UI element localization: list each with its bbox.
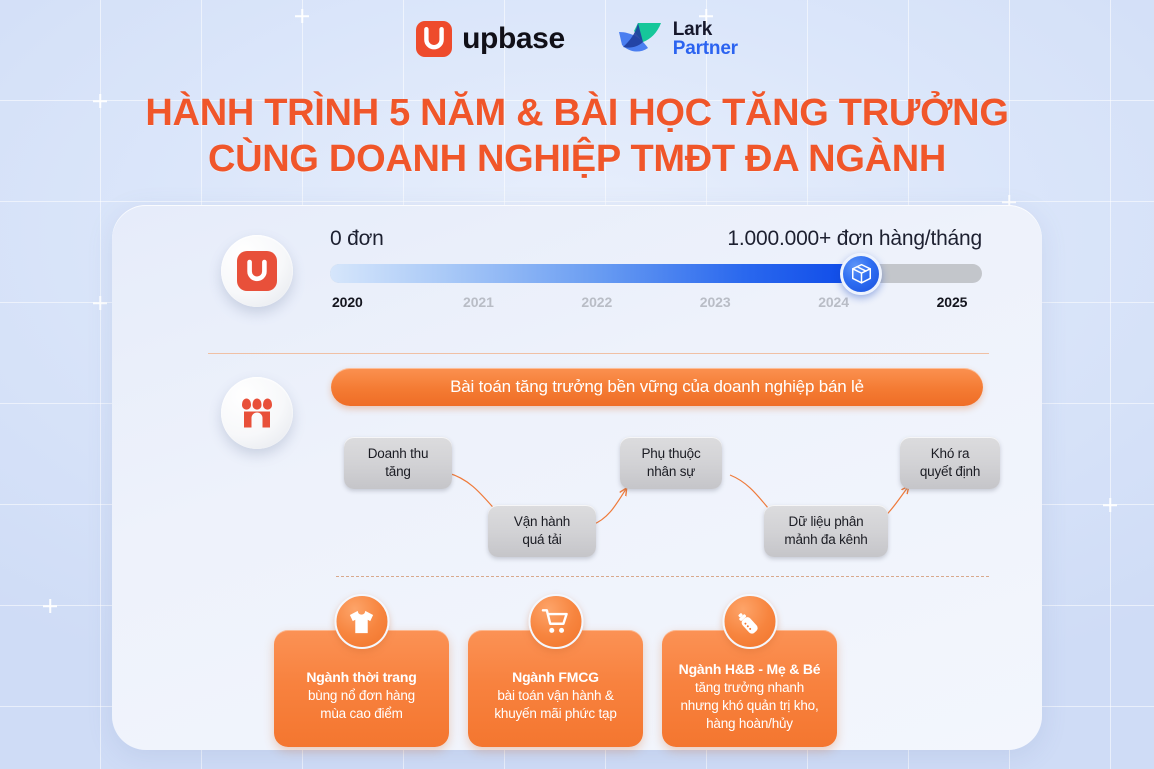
package-box-icon — [851, 263, 872, 285]
industry-card-fashion-title: Ngành thời trang — [284, 668, 439, 686]
flow-box-5-line2: quyết định — [920, 464, 980, 479]
flow-box-3-line1: Phụ thuộc — [642, 446, 701, 461]
upbase-logo: upbase — [416, 21, 565, 57]
industry-card-list: Ngành thời trang bùng nổ đơn hàng mùa ca… — [274, 630, 886, 747]
baby-bottle-icon — [722, 594, 777, 649]
timeline-slider-thumb[interactable] — [840, 253, 882, 295]
timeline-progress-fill — [330, 264, 861, 283]
industry-card-fmcg-desc-line1: bài toán vận hành & — [478, 687, 633, 705]
lark-wordmark: Lark Partner — [673, 20, 738, 58]
industry-card-hb-desc-line2: nhưng khó quản trị kho, — [672, 697, 827, 715]
flow-box-4: Dữ liệu phânmảnh đa kênh — [764, 505, 888, 557]
flow-box-2: Vận hànhquá tải — [488, 505, 596, 557]
timeline-year-2021: 2021 — [450, 294, 506, 310]
lark-partner-logo: Lark Partner — [617, 20, 738, 58]
timeline-progress-track[interactable] — [330, 264, 982, 283]
flow-box-1-line2: tăng — [385, 464, 410, 479]
industry-card-hb-title: Ngành H&B - Mẹ & Bé — [672, 660, 827, 678]
flow-box-5: Khó raquyết định — [900, 437, 1000, 489]
flow-box-5-line1: Khó ra — [931, 446, 970, 461]
section-divider-bottom — [336, 576, 989, 577]
page-title-line2: CÙNG DOANH NGHIỆP TMĐT ĐA NGÀNH — [0, 136, 1154, 182]
retail-badge-storefront — [221, 377, 293, 449]
sparkle-icon — [43, 599, 57, 613]
problem-flow-chart: Doanh thutăng Vận hànhquá tải Phụ thuộcn… — [330, 433, 990, 563]
shopping-cart-icon — [528, 594, 583, 649]
industry-card-fmcg-desc-line2: khuyến mãi phức tạp — [478, 705, 633, 723]
industry-card-fashion-desc-line1: bùng nổ đơn hàng — [284, 687, 439, 705]
infographic-canvas: upbase Lark Partner HÀNH TRÌNH 5 NĂM & B… — [0, 0, 1154, 769]
upbase-logo-icon — [237, 251, 277, 291]
timeline-year-2022: 2022 — [569, 294, 625, 310]
sparkle-icon — [1103, 498, 1117, 512]
page-title-line1: HÀNH TRÌNH 5 NĂM & BÀI HỌC TĂNG TRƯỞNG — [0, 90, 1154, 136]
flow-box-4-line2: mảnh đa kênh — [784, 532, 867, 547]
sparkle-icon — [93, 296, 107, 310]
timeline-year-2025: 2025 — [924, 294, 980, 310]
section-divider-top — [208, 353, 989, 354]
industry-card-fmcg-title: Ngành FMCG — [478, 668, 633, 686]
timeline-year-2023: 2023 — [687, 294, 743, 310]
flow-box-4-line1: Dữ liệu phân — [789, 514, 864, 529]
timeline-endpoint-labels: 0 đơn 1.000.000+ đơn hàng/tháng — [330, 227, 982, 251]
upbase-wordmark: upbase — [462, 22, 565, 56]
industry-card-fashion-desc-line2: mùa cao điểm — [284, 705, 439, 723]
timeline-year-2020: 2020 — [332, 294, 388, 310]
timeline-year-2024: 2024 — [806, 294, 862, 310]
upbase-u-logo-icon — [416, 21, 452, 57]
timeline-start-label: 0 đơn — [330, 227, 384, 251]
flow-box-2-line2: quá tải — [522, 532, 561, 547]
tshirt-icon — [334, 594, 389, 649]
storefront-icon — [237, 393, 277, 433]
industry-card-fmcg: Ngành FMCG bài toán vận hành & khuyến mã… — [468, 630, 643, 747]
lark-word-line2: Partner — [673, 39, 738, 58]
industry-card-fashion: Ngành thời trang bùng nổ đơn hàng mùa ca… — [274, 630, 449, 747]
industry-card-hb-mom-baby: Ngành H&B - Mẹ & Bé tăng trưởng nhanh nh… — [662, 630, 837, 747]
main-content-card: 0 đơn 1.000.000+ đơn hàng/tháng — [112, 205, 1042, 750]
flow-box-1-line1: Doanh thu — [368, 446, 429, 461]
flow-box-3-line2: nhân sự — [647, 464, 695, 479]
retail-problem-banner-text: Bài toán tăng trưởng bền vững của doanh … — [450, 377, 864, 397]
flow-box-1: Doanh thutăng — [344, 437, 452, 489]
timeline-year-labels: 2020 2021 2022 2023 2024 2025 — [330, 294, 982, 310]
lark-leaf-logo-icon — [617, 21, 663, 57]
retail-problem-banner: Bài toán tăng trưởng bền vững của doanh … — [331, 368, 983, 406]
lark-word-line1: Lark — [673, 20, 738, 39]
growth-timeline: 0 đơn 1.000.000+ đơn hàng/tháng — [330, 227, 982, 310]
flow-box-2-line1: Vận hành — [514, 514, 570, 529]
industry-card-hb-desc-line1: tăng trưởng nhanh — [672, 679, 827, 697]
logo-row: upbase Lark Partner — [0, 20, 1154, 58]
flow-box-3: Phụ thuộcnhân sự — [620, 437, 722, 489]
timeline-end-label: 1.000.000+ đơn hàng/tháng — [727, 227, 982, 251]
page-title: HÀNH TRÌNH 5 NĂM & BÀI HỌC TĂNG TRƯỞNG C… — [0, 90, 1154, 183]
timeline-badge-upbase — [221, 235, 293, 307]
industry-card-hb-desc-line3: hàng hoàn/hủy — [672, 715, 827, 733]
